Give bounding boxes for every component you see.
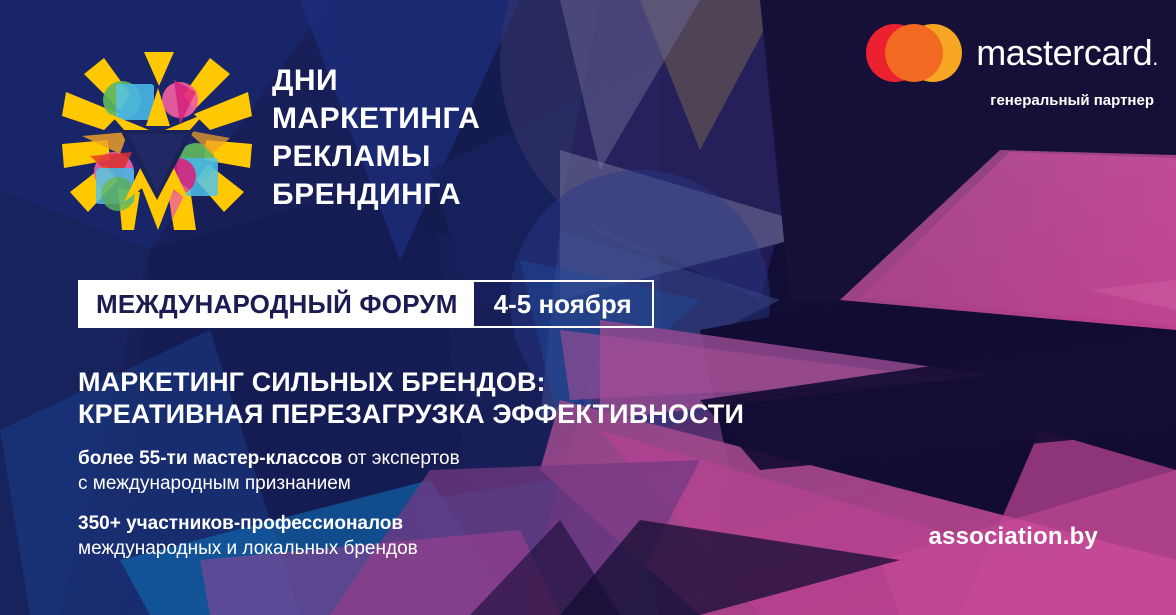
mastercard-wordmark: mastercard.	[976, 32, 1158, 74]
logo-wordmark: ДНИ МАРКЕТИНГА РЕКЛАМЫ БРЕНДИНГА	[272, 62, 480, 214]
starburst-logo-icon	[62, 52, 252, 230]
fact-1-line-1: более 55-ти мастер-классов от экспертов	[78, 446, 460, 471]
headline-line-2: КРЕАТИВНАЯ ПЕРЕЗАГРУЗКА ЭФФЕКТИВНОСТИ	[78, 398, 744, 430]
fact-1-line-2: с международным признанием	[78, 471, 460, 496]
fact-participants: 350+ участников-профессионалов междунаро…	[78, 511, 418, 561]
mastercard-logo: mastercard.	[858, 24, 1158, 82]
fact-masterclasses: более 55-ти мастер-классов от экспертов …	[78, 446, 460, 496]
fact-2-line-1: 350+ участников-профессионалов	[78, 511, 418, 536]
site-url: association.by	[928, 523, 1098, 551]
forum-title: МЕЖДУНАРОДНЫЙ ФОРУМ	[78, 280, 474, 328]
mastercard-overlap	[885, 24, 943, 82]
logo-line-1: ДНИ	[272, 62, 480, 100]
headline-line-1: МАРКЕТИНГ СИЛЬНЫХ БРЕНДОВ:	[78, 366, 744, 398]
fact-1-bold: более 55-ти мастер-классов	[78, 448, 342, 469]
logo-line-2: МАРКЕТИНГА	[272, 100, 480, 138]
logo-line-4: БРЕНДИНГА	[272, 176, 480, 214]
fact-1-rest: от экспертов	[342, 448, 459, 469]
sponsor-block: mastercard. генеральный партнер	[858, 24, 1158, 109]
fact-2-bold: 350+ участников-профессионалов	[78, 513, 403, 534]
mastercard-circles-icon	[866, 24, 962, 82]
forum-date-badge: 4-5 ноября	[474, 280, 654, 328]
mastercard-name: mastercard	[976, 32, 1152, 73]
mastercard-dot: .	[1152, 45, 1158, 70]
headline: МАРКЕТИНГ СИЛЬНЫХ БРЕНДОВ: КРЕАТИВНАЯ ПЕ…	[78, 366, 744, 430]
forum-bar: МЕЖДУНАРОДНЫЙ ФОРУМ 4-5 ноября	[78, 280, 654, 328]
logo-line-3: РЕКЛАМЫ	[272, 138, 480, 176]
fact-2-line-2: международных и локальных брендов	[78, 536, 418, 561]
promo-banner: ДНИ МАРКЕТИНГА РЕКЛАМЫ БРЕНДИНГА МЕЖДУНА…	[0, 0, 1176, 615]
sponsor-role: генеральный партнер	[858, 92, 1158, 109]
